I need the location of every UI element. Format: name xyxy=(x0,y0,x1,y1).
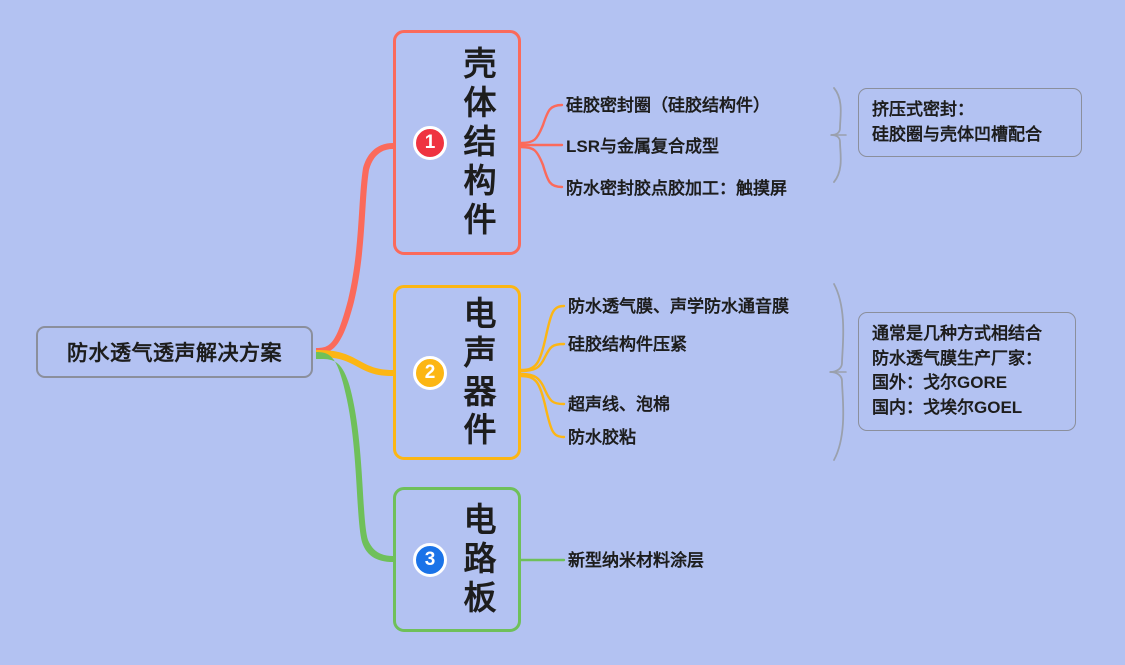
annotation-card-1[interactable]: 挤压式密封： 硅胶圈与壳体凹槽配合 xyxy=(858,88,1082,157)
branch-node-3[interactable]: 3 电 路 板 xyxy=(393,487,521,632)
leaf-item[interactable]: 防水密封胶点胶加工：触摸屏 xyxy=(566,180,787,197)
branch-node-2[interactable]: 2 电 声 器 件 xyxy=(393,285,521,460)
leaf-item[interactable]: 防水胶粘 xyxy=(568,429,636,446)
annotation-line: 通常是几种方式相结合 xyxy=(872,322,1062,347)
annotation-line: 硅胶圈与壳体凹槽配合 xyxy=(872,123,1068,148)
branch-title-char: 电 xyxy=(464,295,497,334)
leaf-item[interactable]: LSR与金属复合成型 xyxy=(566,138,719,155)
branch-badge-2: 2 xyxy=(413,356,447,390)
branch-title-char: 壳 xyxy=(464,45,497,84)
branch-title-char: 体 xyxy=(464,84,497,123)
leaf-item[interactable]: 硅胶结构件压紧 xyxy=(568,336,687,353)
branch-title-char: 件 xyxy=(464,411,497,450)
mindmap-canvas: 防水透气透声解决方案 1 壳 体 结 构 件 硅胶密封圈（硅胶结构件） LSR与… xyxy=(0,0,1125,665)
leaf-item[interactable]: 防水透气膜、声学防水通音膜 xyxy=(568,298,789,315)
trunk-branch-3 xyxy=(316,352,393,562)
annotation-line: 挤压式密封： xyxy=(872,98,1068,123)
leaf-connector-2-4 xyxy=(521,376,564,437)
branch-title-1: 壳 体 结 构 件 xyxy=(454,33,506,252)
leaf-connector-1-1 xyxy=(521,105,562,143)
branch-title-2: 电 声 器 件 xyxy=(454,288,506,457)
branch-node-1[interactable]: 1 壳 体 结 构 件 xyxy=(393,30,521,255)
annotation-line: 国外：戈尔GORE xyxy=(872,371,1062,396)
annotation-line: 国内：戈埃尔GOEL xyxy=(872,396,1062,421)
branch-title-char: 路 xyxy=(464,540,497,579)
trunk-branch-1 xyxy=(316,143,393,354)
branch-title-char: 电 xyxy=(464,501,497,540)
branch-title-char: 结 xyxy=(464,123,497,162)
curly-brace-icon-2 xyxy=(830,284,843,460)
branch-badge-3: 3 xyxy=(413,543,447,577)
branch-title-char: 板 xyxy=(464,579,497,618)
branch-title-3: 电 路 板 xyxy=(454,490,506,629)
leaf-item[interactable]: 超声线、泡棉 xyxy=(568,396,670,413)
branch-title-char: 件 xyxy=(464,201,497,240)
leaf-connector-1-3 xyxy=(521,147,562,187)
leaf-item[interactable]: 新型纳米材料涂层 xyxy=(568,552,704,569)
root-node-label: 防水透气透声解决方案 xyxy=(67,337,282,367)
leaf-connector-2-1 xyxy=(521,306,564,370)
annotation-card-2[interactable]: 通常是几种方式相结合 防水透气膜生产厂家： 国外：戈尔GORE 国内：戈埃尔GO… xyxy=(858,312,1076,431)
leaf-connector-2-2 xyxy=(521,344,564,371)
curly-brace-icon-1 xyxy=(831,88,841,182)
branch-title-char: 器 xyxy=(464,373,497,412)
branch-title-char: 构 xyxy=(464,162,497,201)
root-node[interactable]: 防水透气透声解决方案 xyxy=(36,326,313,378)
trunk-branch-2 xyxy=(316,350,393,376)
leaf-item[interactable]: 硅胶密封圈（硅胶结构件） xyxy=(566,97,770,114)
leaf-connector-2-3 xyxy=(521,374,564,404)
annotation-line: 防水透气膜生产厂家： xyxy=(872,347,1062,372)
branch-badge-1: 1 xyxy=(413,126,447,160)
branch-title-char: 声 xyxy=(464,334,497,373)
